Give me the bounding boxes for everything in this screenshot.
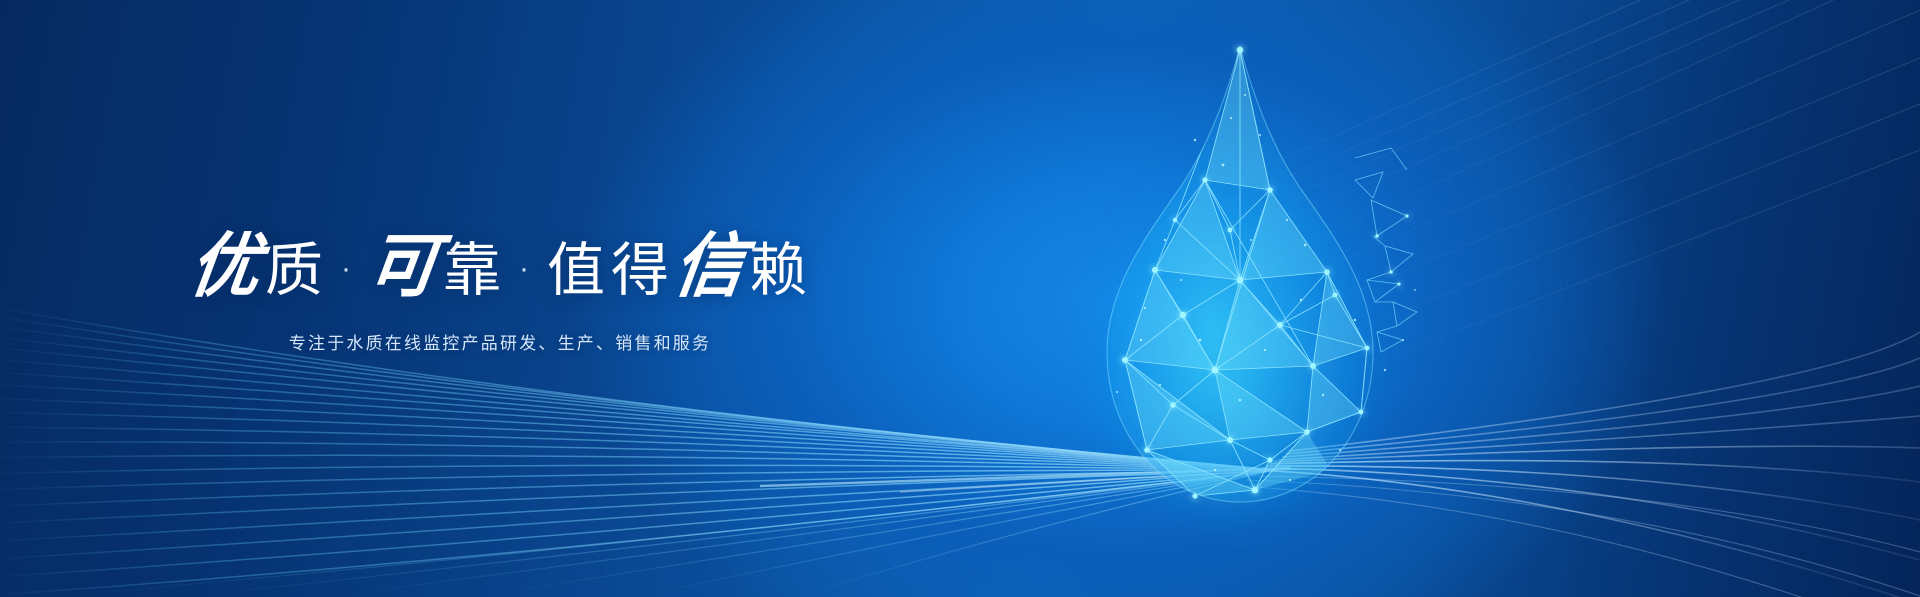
headline-char: 可 <box>363 229 444 303</box>
headline-separator: · <box>519 253 531 285</box>
headline-char: 靠 <box>443 240 503 301</box>
headline: 优质·可靠·值得信赖 <box>189 229 811 303</box>
subtitle: 专注于水质在线监控产品研发、生产、销售和服务 <box>289 329 711 354</box>
headline-separator: · <box>341 253 353 285</box>
hero-text-block: 优质·可靠·值得信赖 专注于水质在线监控产品研发、生产、销售和服务 <box>0 0 1000 597</box>
headline-char: 优 <box>185 229 266 303</box>
headline-char: 赖 <box>749 240 809 301</box>
headline-char: 质 <box>265 240 325 301</box>
water-droplet-graphic <box>1055 40 1425 520</box>
hero-banner: 优质·可靠·值得信赖 专注于水质在线监控产品研发、生产、销售和服务 <box>0 0 1920 597</box>
headline-char: 信 <box>670 229 751 303</box>
headline-char: 值 <box>547 240 607 301</box>
headline-char: 得 <box>611 240 671 301</box>
